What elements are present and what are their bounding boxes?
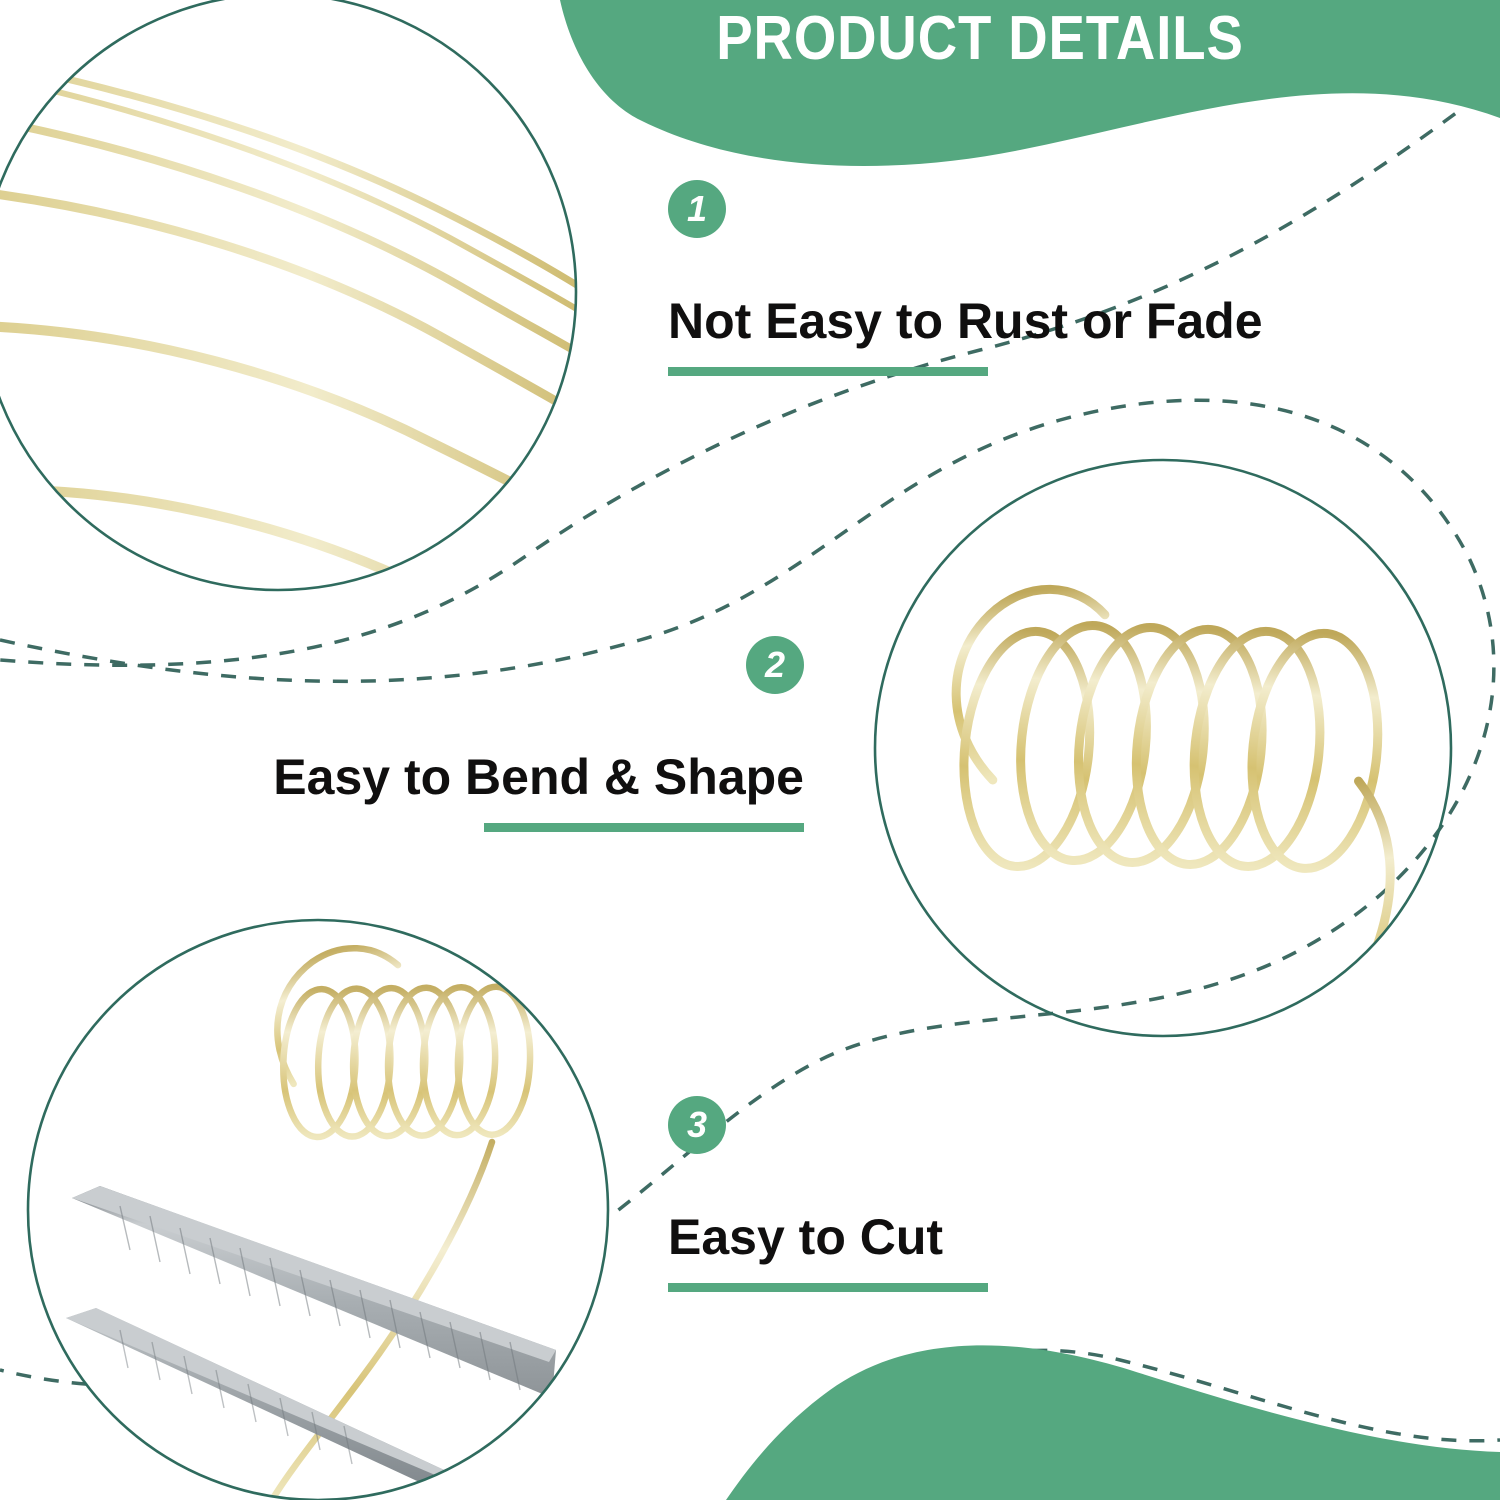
bottom-band-shape xyxy=(726,1345,1500,1500)
feature-number-badge-2: 2 xyxy=(746,636,804,694)
scissors-cut-group xyxy=(20,907,620,1500)
feature-underline-1 xyxy=(668,367,988,376)
wire-strands-group xyxy=(0,0,644,694)
feature-block-2: 2 Easy to Bend & Shape xyxy=(254,636,804,832)
feature-headline-2: Easy to Bend & Shape xyxy=(254,750,804,805)
feature-number-badge-3: 3 xyxy=(668,1096,726,1154)
feature-block-1: 1 Not Easy to Rust or Fade xyxy=(668,180,1263,376)
photo-1-circle-outline xyxy=(0,0,576,590)
product-details-infographic: PRODUCT DETAILS 1 Not Easy to Rust or Fa… xyxy=(0,0,1500,1500)
page-title: PRODUCT DETAILS xyxy=(681,6,1279,71)
feature-number-badge-1: 1 xyxy=(668,180,726,238)
coil-group xyxy=(917,543,1452,1158)
feature-headline-1: Not Easy to Rust or Fade xyxy=(668,294,1263,349)
feature-underline-3 xyxy=(668,1283,988,1292)
photo-3-circle-outline xyxy=(28,920,608,1500)
photo-2-circle-outline xyxy=(875,460,1451,1036)
feature-block-3: 3 Easy to Cut xyxy=(668,1096,988,1292)
feature-headline-3: Easy to Cut xyxy=(668,1210,988,1265)
feature-underline-2 xyxy=(484,823,804,832)
dashed-curve-lower xyxy=(760,1350,1500,1480)
